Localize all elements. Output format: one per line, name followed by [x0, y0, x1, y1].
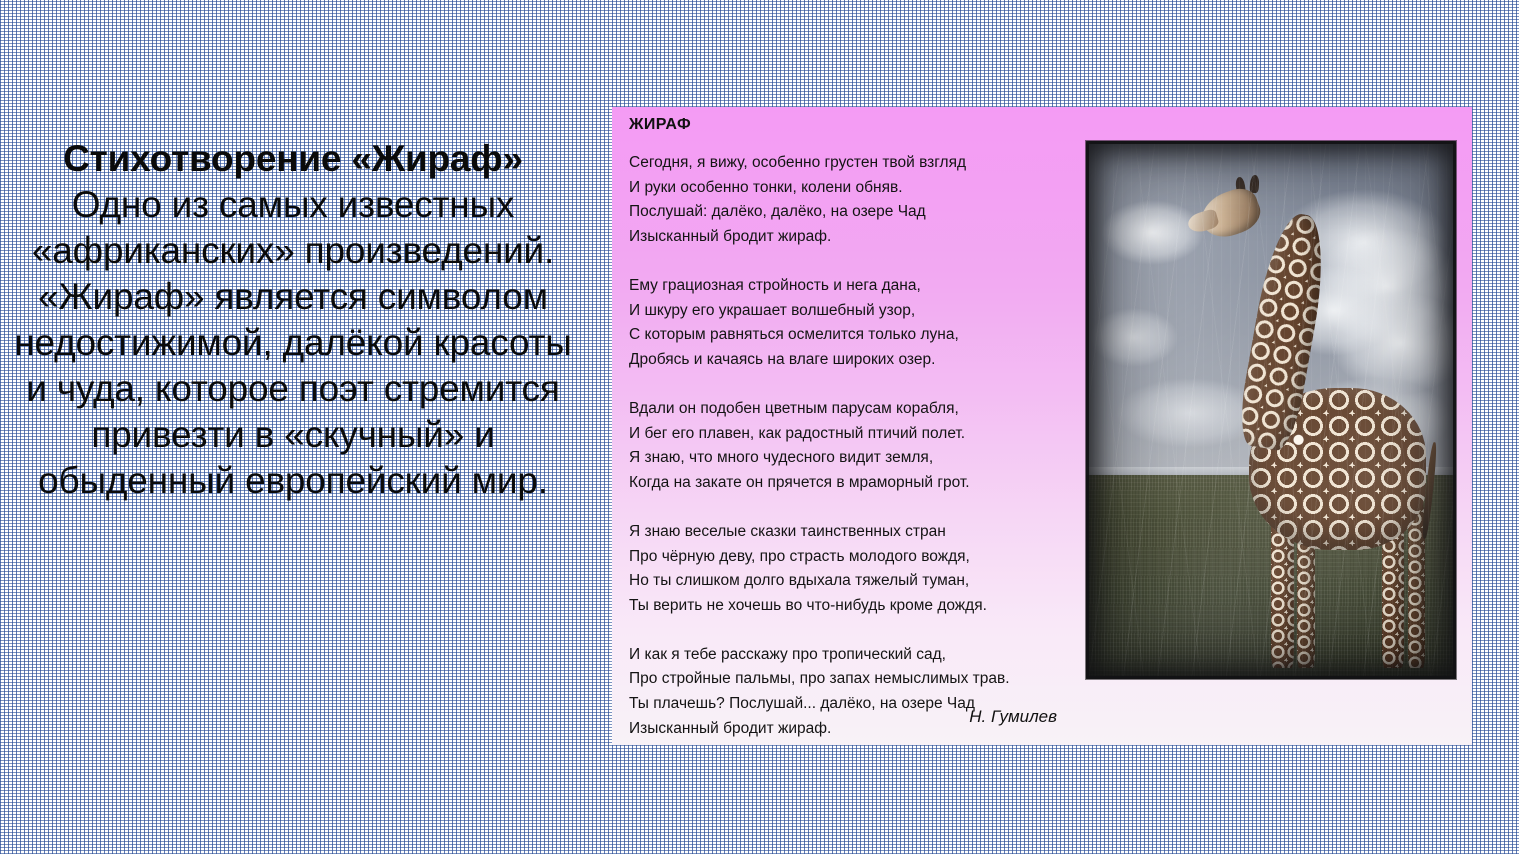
- left-commentary-body: Одно из самых известных «африканских» пр…: [4, 182, 582, 504]
- giraffe-photo: [1086, 141, 1456, 679]
- poem-card: ЖИРАФ Сегодня, я вижу, особенно грустен …: [612, 107, 1472, 745]
- poem-author: Н. Гумилев: [629, 707, 1081, 727]
- cloud-shape: [1090, 308, 1179, 367]
- left-commentary-block: Стихотворение «Жираф» Одно из самых изве…: [4, 136, 582, 504]
- slide-canvas: Стихотворение «Жираф» Одно из самых изве…: [0, 0, 1519, 854]
- left-commentary-title: Стихотворение «Жираф»: [4, 136, 582, 182]
- giraffe-photo-frame: [1086, 141, 1456, 679]
- poem-text: Сегодня, я вижу, особенно грустен твой в…: [629, 151, 1081, 741]
- cloud-shape: [1101, 200, 1205, 265]
- poem-title: ЖИРАФ: [629, 116, 691, 134]
